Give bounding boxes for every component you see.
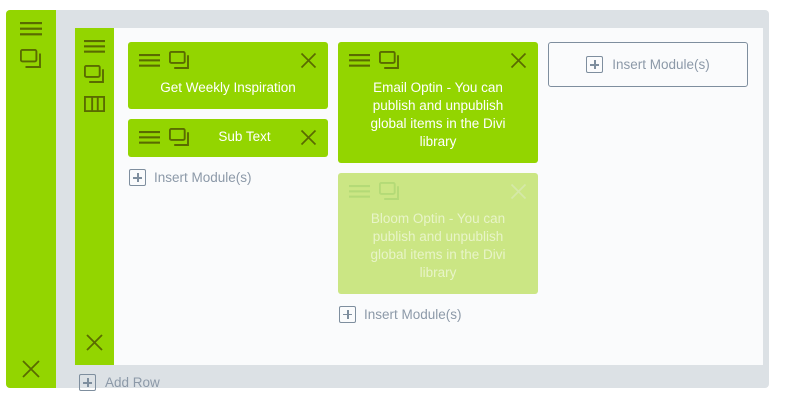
duplicate-icon[interactable] (379, 51, 400, 70)
duplicate-icon[interactable] (169, 128, 190, 147)
duplicate-icon[interactable] (84, 65, 105, 84)
section-delete-button[interactable] (21, 359, 41, 379)
columns-icon[interactable] (84, 96, 105, 112)
duplicate-icon[interactable] (169, 51, 190, 70)
hamburger-icon[interactable] (84, 40, 105, 53)
column-3: Insert Module(s) (548, 42, 748, 365)
row-settings-bar (75, 28, 114, 365)
module-toolbar (139, 51, 317, 70)
module-title: Email Optin - You can publish and unpubl… (349, 79, 527, 151)
hamburger-icon[interactable] (349, 54, 370, 67)
module-delete-button (509, 182, 527, 200)
plus-icon (129, 169, 146, 186)
hamburger-icon (349, 185, 370, 198)
add-row-button[interactable]: Add Row (69, 367, 769, 398)
row-delete-button[interactable] (85, 333, 104, 352)
module-toolbar (349, 51, 527, 70)
insert-modules-label: Insert Module(s) (364, 307, 462, 322)
hamburger-icon[interactable] (139, 131, 160, 144)
row-icon-group (84, 40, 105, 112)
module-delete-button[interactable] (509, 52, 527, 70)
module-card[interactable]: Sub Text (128, 119, 328, 157)
insert-modules-link[interactable]: Insert Module(s) (338, 304, 538, 323)
close-icon (21, 359, 41, 379)
close-icon (85, 333, 104, 352)
duplicate-icon[interactable] (20, 49, 42, 69)
visual-builder-canvas: Get Weekly Inspiration (0, 0, 797, 401)
insert-modules-label: Insert Module(s) (154, 170, 252, 185)
duplicate-icon (379, 182, 400, 201)
plus-icon (586, 56, 603, 73)
row-columns-container: Get Weekly Inspiration (114, 28, 763, 365)
module-toolbar (349, 182, 527, 201)
module-card[interactable]: Email Optin - You can publish and unpubl… (338, 42, 538, 163)
insert-modules-label: Insert Module(s) (612, 57, 710, 72)
module-title: Get Weekly Inspiration (139, 79, 317, 97)
hamburger-icon[interactable] (20, 22, 42, 36)
section-icon-group (20, 22, 42, 69)
column-2: Email Optin - You can publish and unpubl… (338, 42, 538, 365)
column-1: Get Weekly Inspiration (128, 42, 328, 365)
insert-modules-drop-target[interactable]: Insert Module(s) (548, 42, 748, 87)
plus-icon (339, 306, 356, 323)
plus-icon (79, 374, 96, 391)
section-settings-bar (6, 10, 56, 388)
add-row-label: Add Row (105, 375, 160, 390)
module-toolbar: Sub Text (139, 128, 317, 147)
section-frame: Get Weekly Inspiration (6, 10, 769, 388)
module-card[interactable]: Get Weekly Inspiration (128, 42, 328, 109)
hamburger-icon[interactable] (139, 54, 160, 67)
module-delete-button[interactable] (299, 128, 317, 146)
module-card-dragging[interactable]: Bloom Optin - You can publish and unpubl… (338, 173, 538, 294)
insert-modules-link[interactable]: Insert Module(s) (128, 167, 328, 186)
module-delete-button[interactable] (299, 52, 317, 70)
module-title: Sub Text (199, 128, 290, 146)
module-title: Bloom Optin - You can publish and unpubl… (349, 210, 527, 282)
